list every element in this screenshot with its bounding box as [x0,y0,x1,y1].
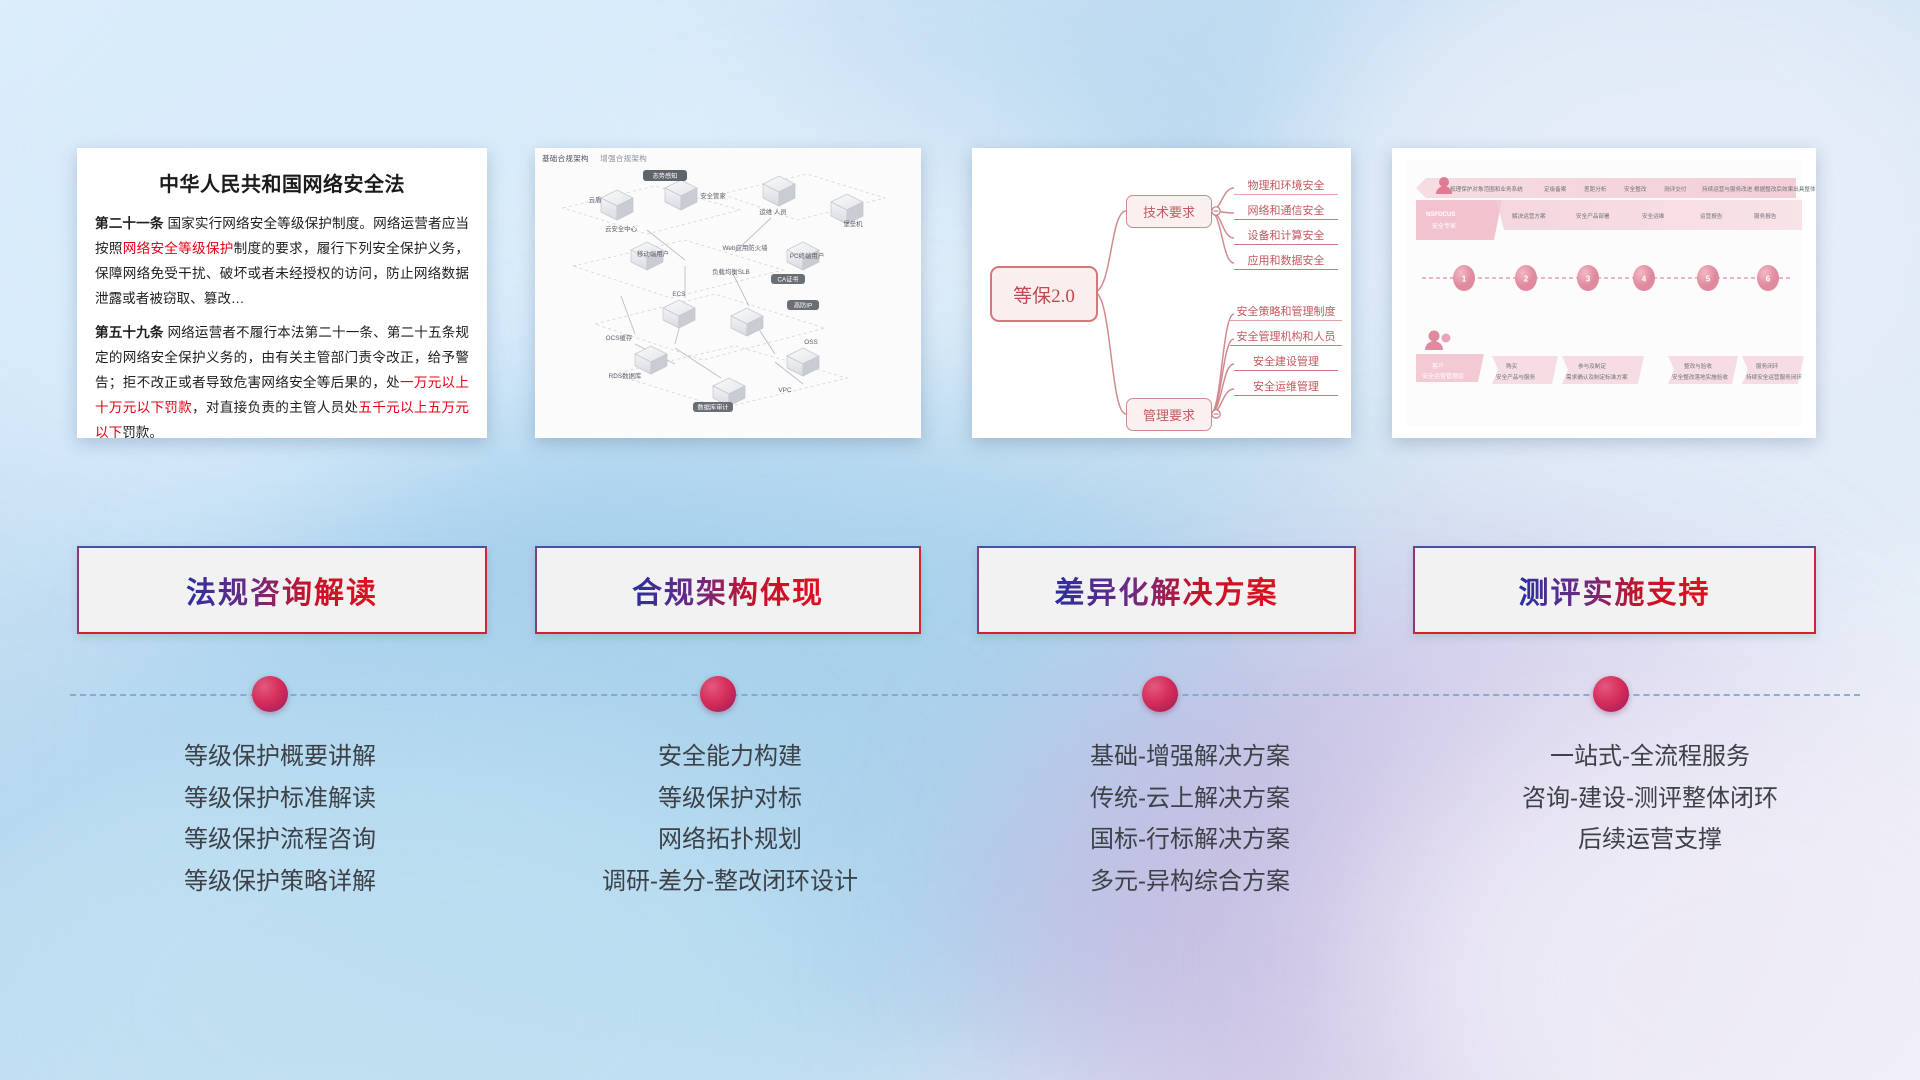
timeline-axis [0,660,1920,730]
customer-role-label: 客户 [1432,362,1444,370]
list-item: 国标-行标解决方案 [960,819,1420,861]
timeline-header-item: 根据整改后效果出具整体安全报告 [1754,185,1816,193]
timeline-svg: 梳理保护对象范围和业务系统 定级备案 差距分析 安全整改 测评交付 持续运营与服… [1392,148,1816,438]
law-title: 中华人民共和国网络安全法 [95,168,469,197]
list-item: 等级保护对标 [500,778,960,820]
timeline-header-item: 差距分析 [1584,185,1607,193]
timeline-step-number: 3 [1586,275,1591,284]
axis-node-dot[interactable] [700,676,736,712]
banner-label: 测评实施支持 [1519,568,1711,612]
law-paragraph-21: 第二十一条 国家实行网络安全等级保护制度。网络运营者应当按照网络安全等级保护制度… [95,211,469,312]
banner-regulation-consulting[interactable]: 法规咨询解读 [77,546,487,634]
timeline-banner-item: 安全产品部署 [1576,212,1610,220]
list-item: 网络拓扑规划 [500,819,960,861]
list-item: 传统-云上解决方案 [960,778,1420,820]
node-label-oss: OSS [804,339,818,346]
node-label-situation-awareness: 态势感知 [653,172,678,180]
law-paragraph-59: 第五十九条 网络运营者不履行本法第二十一条、第二十五条规定的网络安全保护义务的，… [95,320,469,438]
customer-person-icon [1425,331,1451,351]
detail-column-architecture: 安全能力构建 等级保护对标 网络拓扑规划 调研-差分-整改闭环设计 [500,736,960,902]
list-item: 安全能力构建 [500,736,960,778]
node-label-bastion-host: 堡垒机 [843,219,863,228]
mindmap-leaf[interactable]: 网络和通信安全 [1234,195,1338,220]
law-text: ，对直接负责的主管人员处 [192,400,358,415]
law-text: 罚款。 [122,425,163,438]
timeline-bottom-sub: 安全产品与服务 [1496,373,1536,381]
mindmap-branch-management[interactable]: 管理要求 [1126,398,1212,431]
timeline-step-number: 2 [1524,275,1529,284]
card-dengbao-mindmap[interactable]: 等保2.0 技术要求 管理要求 物理和环境安全 网络和通信安全 设备和计算安全 … [972,148,1351,438]
timeline-header-item: 定级备案 [1544,185,1567,193]
node-label-cloud-security-center: 云安全中心 [605,224,638,233]
mindmap-leaf[interactable]: 安全策略和管理制度 [1230,296,1342,321]
banner-differentiated-solution[interactable]: 差异化解决方案 [977,546,1356,634]
axis-node-dot[interactable] [1142,676,1178,712]
node-label-anti-ddos-ip: 高防IP [794,302,812,310]
axis-dashed-line [70,694,1860,696]
card-compliance-architecture[interactable]: 基础合规架构 增强合规架构 [535,148,921,438]
detail-column-regulation: 等级保护概要讲解 等级保护标准解读 等级保护流程咨询 等级保护策略详解 [60,736,500,902]
mindmap-leaf[interactable]: 安全建设管理 [1234,346,1338,371]
mindmap-leaf[interactable]: 设备和计算安全 [1234,220,1338,245]
timeline-step-number: 4 [1642,275,1647,284]
list-item: 等级保护策略详解 [60,861,500,903]
detail-column-assessment: 一站式-全流程服务 咨询-建设-测评整体闭环 后续运营支撑 [1420,736,1880,861]
nsfocus-process-diagram: 梳理保护对象范围和业务系统 定级备案 差距分析 安全整改 测评交付 持续运营与服… [1392,148,1816,438]
timeline-step-number: 6 [1766,275,1771,284]
node-label-security-butler: 安全管家 [700,191,726,200]
list-item: 后续运营支撑 [1420,819,1880,861]
node-label-slb: 负载均衡SLB [712,267,750,276]
timeline-step-number: 5 [1706,275,1711,284]
detail-column-solution: 基础-增强解决方案 传统-云上解决方案 国标-行标解决方案 多元-异构综合方案 [960,736,1420,902]
node-label-ocs-cache: OCS缓存 [606,333,633,342]
node-label-db-audit: 数据库审计 [698,404,729,412]
timeline-bottom-sub: 安全整改落地实施验收 [1672,373,1728,381]
axis-node-dot[interactable] [1593,676,1629,712]
card-nsfocus-timeline[interactable]: 梳理保护对象范围和业务系统 定级备案 差距分析 安全整改 测评交付 持续运营与服… [1392,148,1816,438]
mindmap-leaf[interactable]: 安全管理机构和人员 [1230,321,1342,346]
card-cybersecurity-law[interactable]: 中华人民共和国网络安全法 第二十一条 国家实行网络安全等级保护制度。网络运营者应… [77,148,487,438]
card-row: 中华人民共和国网络安全法 第二十一条 国家实行网络安全等级保护制度。网络运营者应… [0,148,1920,444]
banner-label: 法规咨询解读 [186,568,378,612]
timeline-banner-item: 安全运维 [1642,212,1665,220]
detail-columns: 等级保护概要讲解 等级保护标准解读 等级保护流程咨询 等级保护策略详解 安全能力… [0,736,1920,986]
node-label-yundun: 云盾 [589,196,602,204]
timeline-bottom-title: 整改与验收 [1684,362,1712,370]
list-item: 一站式-全流程服务 [1420,736,1880,778]
node-label-vpc: VPC [778,387,792,394]
architecture-svg: 态势感知 CA证书 高防IP 数据库审计 安全管家 云盾 云安全中心 运维 人员… [535,148,921,438]
axis-node-dot[interactable] [252,676,288,712]
architecture-diagram: 基础合规架构 增强合规架构 [535,148,921,438]
timeline-banner-item: 服务报告 [1754,212,1777,220]
timeline-header-item: 梳理保护对象范围和业务系统 [1450,185,1523,193]
timeline-bottom-title: 购买 [1506,362,1518,370]
mindmap-leaf[interactable]: 应用和数据安全 [1234,245,1338,270]
mindmap-leaf[interactable]: 物理和环境安全 [1234,170,1338,195]
node-label-ops-staff: 运维 人员 [759,207,786,216]
timeline-banner-item: 运营报告 [1700,212,1723,220]
timeline-step-number: 1 [1462,275,1467,284]
timeline-header-item: 测评交付 [1664,185,1687,193]
list-item: 等级保护概要讲解 [60,736,500,778]
banner-label: 差异化解决方案 [1055,568,1279,612]
list-item: 咨询-建设-测评整体闭环 [1420,778,1880,820]
list-item: 调研-差分-整改闭环设计 [500,861,960,903]
law-document: 中华人民共和国网络安全法 第二十一条 国家实行网络安全等级保护制度。网络运营者应… [77,148,487,438]
mindmap-leaf[interactable]: 安全运维管理 [1234,371,1338,396]
banner-assessment-support[interactable]: 测评实施支持 [1413,546,1816,634]
timeline-bottom-sub: 持续安全运营服务闭环 [1746,373,1802,381]
timeline-bottom-title: 服务闭环 [1756,362,1779,370]
node-label-rds: RDS数据库 [609,371,642,380]
banner-compliance-architecture[interactable]: 合规架构体现 [535,546,921,634]
node-label-waf: Web应用防火墙 [723,243,769,252]
banner-row: 法规咨询解读 合规架构体现 差异化解决方案 测评实施支持 [0,546,1920,656]
law-article-number: 第二十一条 [95,216,164,231]
mindmap: 等保2.0 技术要求 管理要求 物理和环境安全 网络和通信安全 设备和计算安全 … [972,148,1351,438]
timeline-header-item: 安全整改 [1624,185,1647,193]
node-label-mobile-user: 移动端用户 [637,249,669,258]
list-item: 基础-增强解决方案 [960,736,1420,778]
mindmap-branch-technical[interactable]: 技术要求 [1126,195,1212,228]
brand-name: NSFOCUS [1426,212,1455,218]
law-text-highlight: 网络安全等级保护 [123,241,234,256]
list-item: 等级保护标准解读 [60,778,500,820]
timeline-bottom-sub: 需求确认及制定标准方案 [1566,373,1628,381]
node-label-pc-user: PC终端用户 [790,251,824,260]
brand-subtitle: 安全专家 [1432,222,1456,230]
timeline-header-item: 持续运营与服务改进 [1702,185,1753,193]
customer-role-sub: 安全运营管理层 [1422,372,1464,380]
list-item: 多元-异构综合方案 [960,861,1420,903]
node-label-ecs: ECS [672,291,685,298]
list-item: 等级保护流程咨询 [60,819,500,861]
law-article-number: 第五十九条 [95,325,164,340]
timeline-bottom-title: 参与及制定 [1578,362,1606,370]
node-label-ca-certificate: CA证书 [778,276,799,284]
timeline-banner-item: 解决运营方案 [1512,212,1546,220]
mindmap-root-node[interactable]: 等保2.0 [990,266,1098,322]
banner-label: 合规架构体现 [632,568,824,612]
